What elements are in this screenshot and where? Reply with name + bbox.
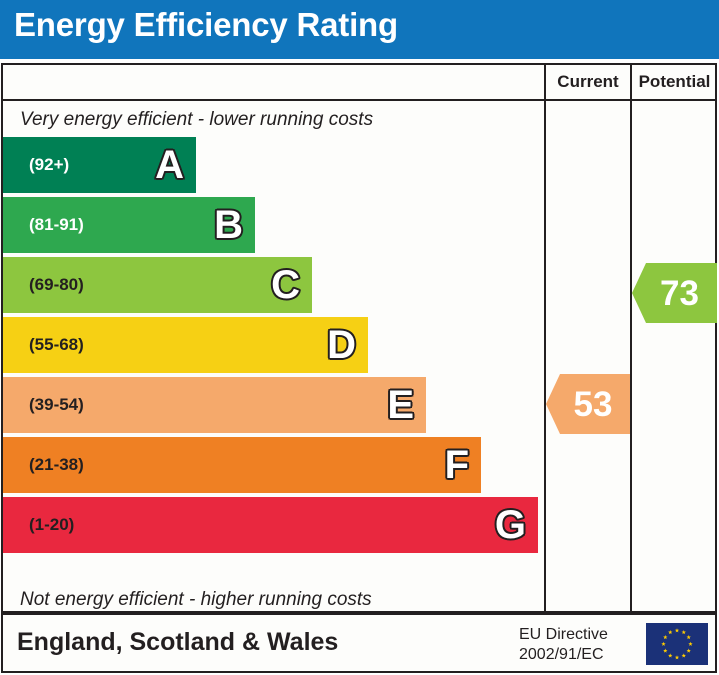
column-divider-potential xyxy=(630,65,632,611)
footer-bar: England, Scotland & Wales EU Directive 2… xyxy=(1,613,717,673)
band-d-letter: D xyxy=(327,325,356,365)
band-a-letter: A xyxy=(155,145,184,185)
band-c-letter: C xyxy=(271,265,300,305)
chart-frame: Current Potential Very energy efficient … xyxy=(1,63,717,613)
band-b-range: (81-91) xyxy=(29,215,84,235)
band-f-letter: F xyxy=(445,445,469,485)
band-g: (1-20) G xyxy=(3,497,538,553)
title-bar: Energy Efficiency Rating xyxy=(0,0,719,59)
column-divider-current xyxy=(544,65,546,611)
caption-efficient: Very energy efficient - lower running co… xyxy=(20,109,373,131)
band-d: (55-68) D xyxy=(3,317,368,373)
band-e-range: (39-54) xyxy=(29,395,84,415)
potential-rating-arrow: 73 xyxy=(632,263,717,323)
column-header-current: Current xyxy=(546,72,630,92)
footer-directive-line2: 2002/91/EC xyxy=(519,645,608,665)
column-header-potential: Potential xyxy=(632,72,717,92)
current-rating-arrow: 53 xyxy=(546,374,630,434)
band-f: (21-38) F xyxy=(3,437,481,493)
band-g-letter: G xyxy=(495,505,526,545)
potential-rating-value: 73 xyxy=(650,276,699,311)
eu-flag-icon xyxy=(646,623,708,665)
band-b-letter: B xyxy=(214,205,243,245)
band-a: (92+) A xyxy=(3,137,196,193)
band-c-range: (69-80) xyxy=(29,275,84,295)
rating-bands: (92+) A (81-91) B (69-80) C (55-68) D (3… xyxy=(3,137,544,587)
caption-inefficient: Not energy efficient - higher running co… xyxy=(20,589,372,611)
band-e: (39-54) E xyxy=(3,377,426,433)
footer-directive-line1: EU Directive xyxy=(519,625,608,645)
footer-directive: EU Directive 2002/91/EC xyxy=(519,625,608,665)
footer-region-label: England, Scotland & Wales xyxy=(17,628,338,657)
band-g-range: (1-20) xyxy=(29,515,74,535)
page-title: Energy Efficiency Rating xyxy=(14,6,398,44)
band-b: (81-91) B xyxy=(3,197,255,253)
current-rating-value: 53 xyxy=(564,387,613,422)
band-c: (69-80) C xyxy=(3,257,312,313)
band-e-letter: E xyxy=(387,385,414,425)
energy-efficiency-certificate: Energy Efficiency Rating Current Potenti… xyxy=(0,0,719,675)
band-f-range: (21-38) xyxy=(29,455,84,475)
band-a-range: (92+) xyxy=(29,155,69,175)
band-d-range: (55-68) xyxy=(29,335,84,355)
